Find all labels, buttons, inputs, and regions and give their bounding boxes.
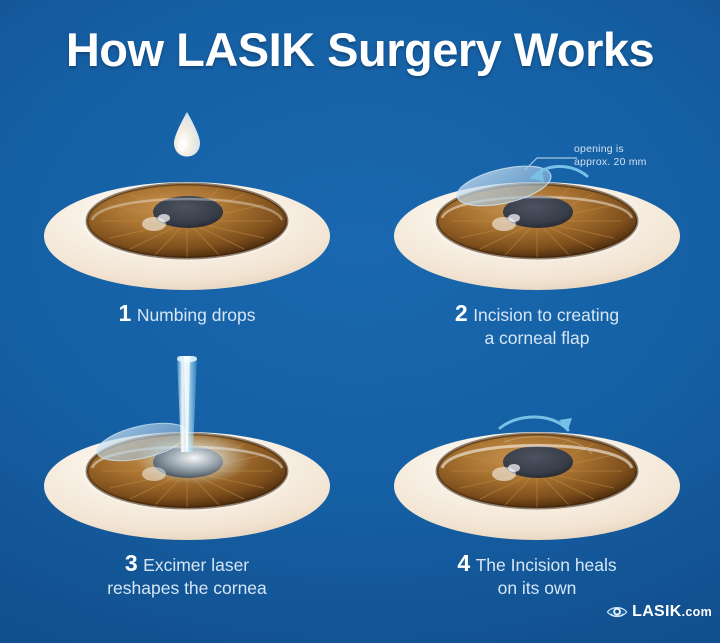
step-4-illustration bbox=[372, 356, 702, 546]
step-3-text-line2: reshapes the cornea bbox=[22, 577, 352, 600]
eyeball-1 bbox=[42, 158, 332, 293]
eyeball-4 bbox=[392, 408, 682, 543]
step-3-caption: 3Excimer laser reshapes the cornea bbox=[22, 552, 352, 600]
annotation-leader-line bbox=[523, 140, 579, 174]
annotation-line-1: opening is bbox=[574, 143, 647, 156]
step-3: 3Excimer laser reshapes the cornea bbox=[22, 356, 352, 600]
step-3-text: Excimer laser bbox=[143, 555, 249, 575]
step-2-illustration bbox=[372, 106, 702, 296]
step-4-caption: 4The Incision heals on its own bbox=[372, 552, 702, 600]
step-4: 4The Incision heals on its own bbox=[372, 356, 702, 600]
water-droplet-icon bbox=[170, 110, 204, 158]
logo-text: LASIK.com bbox=[632, 603, 712, 621]
step-4-text: The Incision heals bbox=[476, 555, 617, 575]
step-3-number: 3 bbox=[125, 550, 138, 576]
step-1-number: 1 bbox=[119, 300, 132, 326]
step-1-caption: 1Numbing drops bbox=[22, 302, 352, 327]
annotation-line-2: approx. 20 mm bbox=[574, 156, 647, 169]
page-title: How LASIK Surgery Works bbox=[0, 22, 720, 77]
step-2-text-line2: a corneal flap bbox=[372, 327, 702, 350]
logo-name: LASIK bbox=[632, 603, 682, 620]
step-2-number: 2 bbox=[455, 300, 468, 326]
step-1-text: Numbing drops bbox=[137, 305, 256, 325]
flap-close-arrow-icon bbox=[500, 417, 568, 430]
step-3-illustration bbox=[22, 356, 352, 546]
annotation-opening-size: opening is approx. 20 mm bbox=[574, 143, 647, 169]
step-2-caption: 2Incision to creating a corneal flap bbox=[372, 302, 702, 350]
step-4-text-line2: on its own bbox=[372, 577, 702, 600]
eye-logo-icon bbox=[606, 601, 628, 623]
excimer-laser-beam-icon bbox=[165, 356, 209, 466]
step-1: 1Numbing drops bbox=[22, 106, 352, 327]
step-2-text: Incision to creating bbox=[473, 305, 619, 325]
eyeball-2 bbox=[392, 158, 682, 293]
step-4-number: 4 bbox=[457, 550, 470, 576]
infographic-poster: How LASIK Surgery Works bbox=[0, 0, 720, 643]
lasik-logo[interactable]: LASIK.com bbox=[606, 598, 712, 626]
logo-tld: .com bbox=[682, 605, 712, 619]
step-1-illustration bbox=[22, 106, 352, 296]
